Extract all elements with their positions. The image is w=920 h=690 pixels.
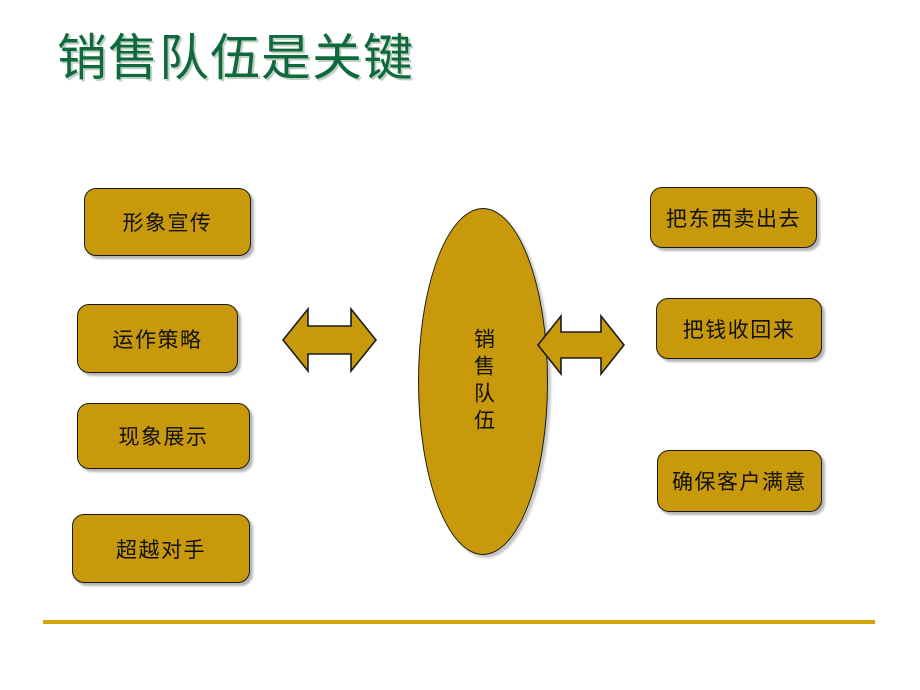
- page-title: 销售队伍是关键: [57, 27, 414, 89]
- bottom-divider-rule: [43, 620, 875, 624]
- left-node-surpass-rivals[interactable]: 超越对手: [72, 514, 250, 583]
- slide-canvas: 销售队伍是关键 形象宣传 运作策略 现象展示 超越对手 销售队伍 把东西卖出去 …: [0, 0, 920, 690]
- left-node-label: 超越对手: [116, 534, 206, 564]
- right-node-label: 把东西卖出去: [666, 203, 801, 233]
- center-ellipse-label: 销售队伍: [469, 328, 498, 436]
- left-node-label: 运作策略: [113, 324, 203, 354]
- right-node-label: 确保客户满意: [672, 466, 807, 496]
- right-node-label: 把钱收回来: [683, 314, 796, 344]
- right-node-collect-payment[interactable]: 把钱收回来: [656, 298, 822, 359]
- right-double-arrow-icon: [537, 311, 625, 379]
- right-node-sell-goods[interactable]: 把东西卖出去: [650, 187, 817, 248]
- left-double-arrow-icon: [282, 303, 377, 377]
- left-node-label: 现象展示: [119, 421, 209, 451]
- left-node-image-promotion[interactable]: 形象宣传: [84, 188, 251, 256]
- right-node-customer-satisfaction[interactable]: 确保客户满意: [657, 450, 822, 512]
- center-ellipse-sales-team[interactable]: 销售队伍: [418, 208, 548, 555]
- left-node-label: 形象宣传: [123, 207, 213, 237]
- left-node-operation-strategy[interactable]: 运作策略: [77, 304, 238, 373]
- left-node-phenomenon-display[interactable]: 现象展示: [77, 403, 250, 469]
